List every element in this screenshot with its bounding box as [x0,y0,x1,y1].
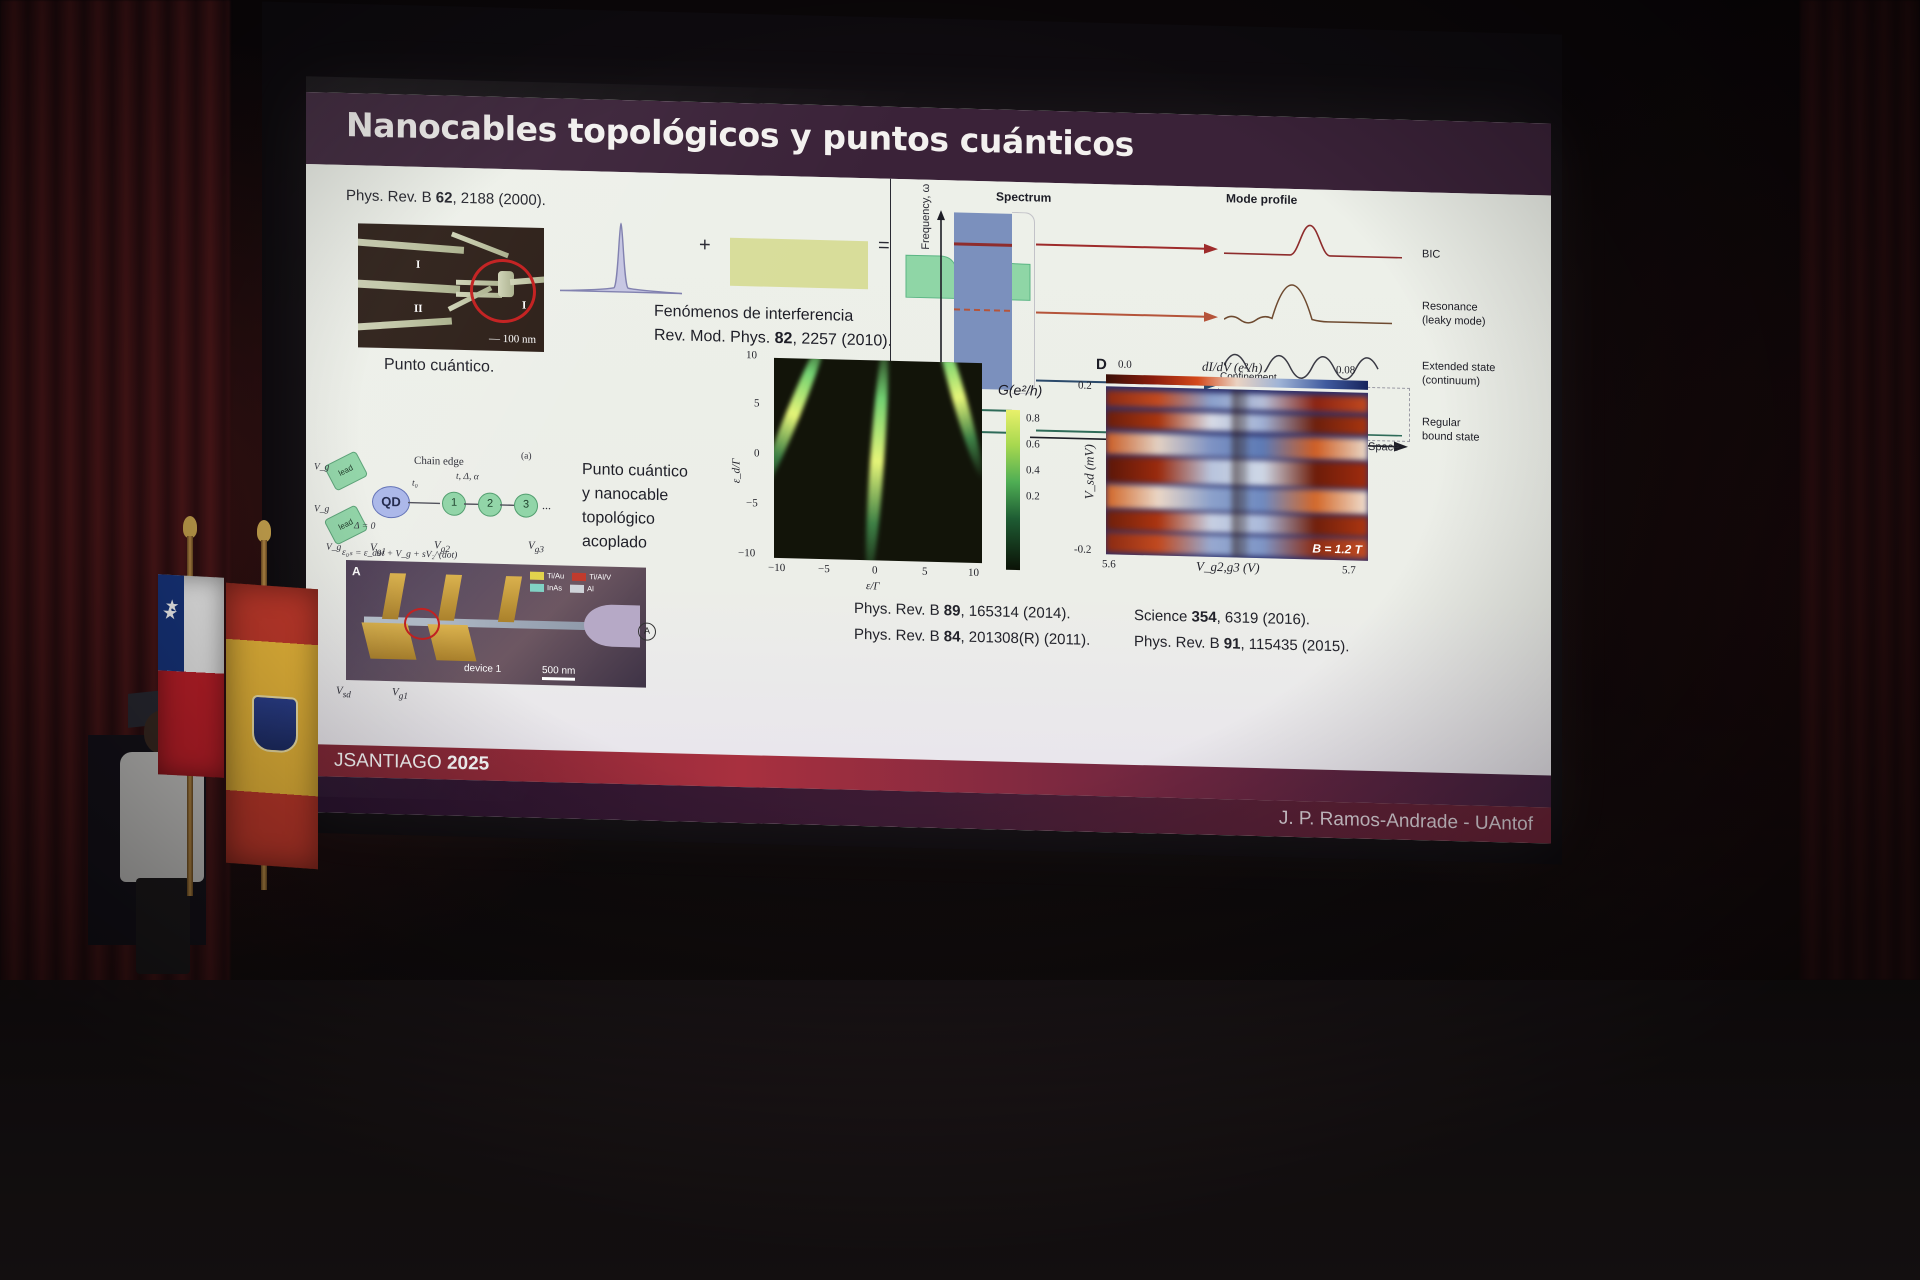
sem-label-1: I [416,259,420,271]
legend-label-inas: InAs [547,583,562,592]
equals-symbol: = [878,234,890,257]
vsd-tick-pos: 0.2 [1078,380,1092,392]
gate-label-lead-top: V_g [314,462,329,472]
cbar2-min: 0.0 [1118,359,1132,371]
reference-prb91: Phys. Rev. B 91, 115435 (2015). [1134,633,1349,655]
cbar-tick-02: 0.2 [1026,490,1040,502]
footer-brand: JSANTIAGO 2025 [334,750,489,776]
vg-tick-min: 5.6 [1102,558,1116,570]
lead-top: lead [324,450,369,491]
text-line-3: topológico [582,509,655,529]
highlight-circle-icon [470,258,536,324]
mode-profile-label: Mode profile [1226,191,1297,207]
gate-label-lead-bottom: V_g [314,504,329,514]
vsd-tick-neg: -0.2 [1074,543,1091,555]
gate-label-dot: V_g [326,543,341,553]
vg-tick-max: 5.7 [1342,564,1356,576]
mode-profile-bic [1224,217,1404,282]
cbar-tick-08: 0.8 [1026,412,1040,424]
device-bottom-label-vg1: Vg1 [392,686,408,701]
chain-bonds [406,497,518,512]
band-bracket [1012,212,1035,395]
chain-edge-label: Chain edge [414,455,464,468]
auditorium-scene: Nanocables topológicos y puntos cuántico… [0,0,1920,1280]
ammeter-icon: A [638,622,656,640]
reference-prb84: Phys. Rev. B 84, 201308(R) (2011). [854,626,1090,649]
ytick-neg5: −5 [746,497,758,509]
caption-interferencia: Fenómenos de interferencia [654,303,853,326]
legend-label-tialv: Ti/Al/V [589,572,611,582]
xtick-10: 10 [968,567,979,579]
text-line-1: Punto cuántico [582,461,688,482]
device-gate-label-g3: Vg3 [528,540,544,555]
sem-label-2: II [414,303,423,315]
presenter-name: J. P. Ramos-Andrade - UAntof [1279,808,1533,836]
flagpole-finial-right [257,520,271,542]
plus-symbol: + [699,234,711,257]
xtick-5: 5 [922,566,928,578]
vsd-axis-label: V_sd (mV) [1082,444,1098,500]
panel-tag-a-lower: (a) [521,451,532,461]
reference-rmp82: Rev. Mod. Phys. 82, 2257 (2010). [654,327,892,351]
flagpole-finial-left [183,516,197,538]
yaxis-label-epsd: ε_d/Γ [730,458,742,483]
magnetic-field-annotation: B = 1.2 T [1312,541,1362,556]
xtick-neg5: −5 [818,563,830,575]
conductance-colorbar [1006,410,1020,570]
legend-label-al: Al [587,584,594,593]
ytick-neg10: −10 [738,547,755,559]
device-gate-label-g1: Vg1 [370,542,386,557]
reference-prb62: Phys. Rev. B 62, 2188 (2000). [346,187,546,209]
ytick-10: 10 [746,349,757,361]
stage-floor [0,980,1920,1280]
ytick-0: 0 [754,447,760,459]
chain-ellipsis: ... [542,498,551,513]
legend-label-tiau: Ti/Au [547,571,564,580]
cbar-tick-04: 0.4 [1026,464,1040,476]
presenter-legs [136,878,190,974]
colorbar-title-G: G(e²/h) [998,382,1042,399]
ytick-5: 5 [754,397,760,409]
device-sem-image: A device 1 500 nm Ti/Au Ti/Al/V InAs Al [346,560,646,688]
device-bottom-label-vsd: Vsd [336,685,351,700]
conductance-heatmap [774,358,982,563]
device-name-label: device 1 [464,663,501,675]
coupling-t0-label: t₀ [412,479,418,489]
sem-image-quantum-dot: I II I — 100 nm [358,223,544,352]
space-axis-label: Space [1368,441,1399,454]
mode-profile-resonance [1224,275,1404,344]
stage-curtain-right [1800,0,1920,980]
colorbar-title-didv: dI/dV (e²/h) [1202,359,1262,377]
device-gate-label-g2: Vg2 [434,539,450,554]
device-scale-bar: 500 nm [542,665,575,681]
sem-label-3: I [522,299,526,311]
cbar2-max: 0.08 [1336,364,1355,376]
text-line-4: acoplado [582,533,647,553]
row-sublabel-extended: (continuum) [1422,374,1480,387]
frequency-axis-label: Frequency, ω [920,184,932,250]
caption-punto-cuantico: Punto cuántico. [384,356,494,377]
device-highlight-circle-icon [404,607,440,640]
xaxis-label-eps: ε/Γ [866,580,880,592]
xtick-neg10: −10 [768,562,785,574]
reference-science354: Science 354, 6319 (2016). [1134,607,1310,628]
row-sublabel-regular: bound state [1422,430,1480,443]
regional-flag [226,583,318,869]
delta-zero-label: Δ = 0 [354,521,375,532]
cbar-tick-06: 0.6 [1026,438,1040,450]
panel-tag-A: A [352,564,361,578]
projection-screen: Nanocables topológicos y puntos cuántico… [306,92,1551,844]
chile-flag: ★ ★ [158,574,224,777]
vg-axis-label: V_g2,g3 (V) [1196,559,1260,577]
presentation-slide: Nanocables topológicos y puntos cuántico… [306,92,1551,844]
xtick-0: 0 [872,564,878,576]
row-sublabel-resonance: (leaky mode) [1422,314,1486,328]
continuum-box [730,238,868,289]
device-legend: Ti/Au Ti/Al/V InAs Al [530,571,640,602]
spectrum-label: Spectrum [996,189,1051,204]
row-label-extended: Extended state [1422,360,1495,374]
panel-tag-D: D [1096,356,1107,373]
slide-body: Phys. Rev. B 62, 2188 (2000). I II I — 1… [306,164,1551,776]
text-line-2: y nanocable [582,485,668,505]
reference-prb89: Phys. Rev. B 89, 165314 (2014). [854,600,1071,622]
sem-scale-bar: — 100 nm [489,333,536,346]
chain-params-label: t, Δ, α [456,472,479,483]
didv-heatmap: B = 1.2 T [1106,386,1368,561]
row-label-regular: Regular [1422,416,1461,429]
qd-node: QD [372,486,410,519]
lorentzian-curve [556,208,686,303]
row-label-bic: BIC [1422,248,1440,260]
row-label-resonance: Resonance [1422,300,1478,313]
